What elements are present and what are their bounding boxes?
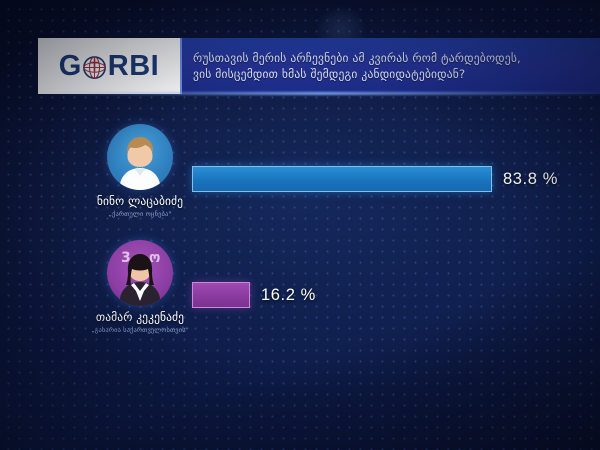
candidate-name: ნინო ლაცაბიძე [78, 195, 202, 208]
candidate-name: თამარ კეკენაძე [78, 311, 202, 324]
avatar [107, 124, 173, 190]
result-value: 16.2 % [261, 286, 316, 305]
result-bar [192, 282, 250, 308]
gorbi-logo-panel: G RBI [38, 38, 180, 94]
candidate-1: ნინო ლაცაბიძე „ქართული ოცნება" [78, 124, 202, 219]
bar-row-1: 83.8 % [192, 166, 558, 192]
logo-text-after: RBI [108, 52, 159, 81]
header-banner: G RBI რუსთავის მერის არჩევნები ამ კვირას… [38, 38, 600, 94]
question-line-1: რუსთავის მერის არჩევნები ამ კვირას რომ ტ… [193, 50, 591, 66]
broadcast-poll-graphic: G RBI რუსთავის მერის არჩევნები ამ კვირას… [0, 0, 600, 450]
question-line-2: ვის მისცემდით ხმას შემდეგი კანდიდატებიდა… [193, 66, 591, 82]
gorbi-logo: G RBI [59, 52, 160, 81]
bar-row-2: 16.2 % [192, 282, 316, 308]
header-underline-glow [38, 92, 600, 95]
avatar: 3 ო [107, 240, 173, 306]
logo-text-before: G [59, 52, 82, 81]
globe-cross-icon [82, 55, 107, 80]
candidate-party: „ქართული ოცნება" [78, 210, 202, 219]
candidate-2: 3 ო თამარ კეკენაძე „გახარია საქართველოსთ… [78, 240, 202, 335]
result-value: 83.8 % [503, 170, 558, 189]
question-banner: რუსთავის მერის არჩევნები ამ კვირას რომ ტ… [180, 38, 600, 94]
candidate-party: „გახარია საქართველოსთვის" [78, 326, 202, 335]
result-bar [192, 166, 492, 192]
